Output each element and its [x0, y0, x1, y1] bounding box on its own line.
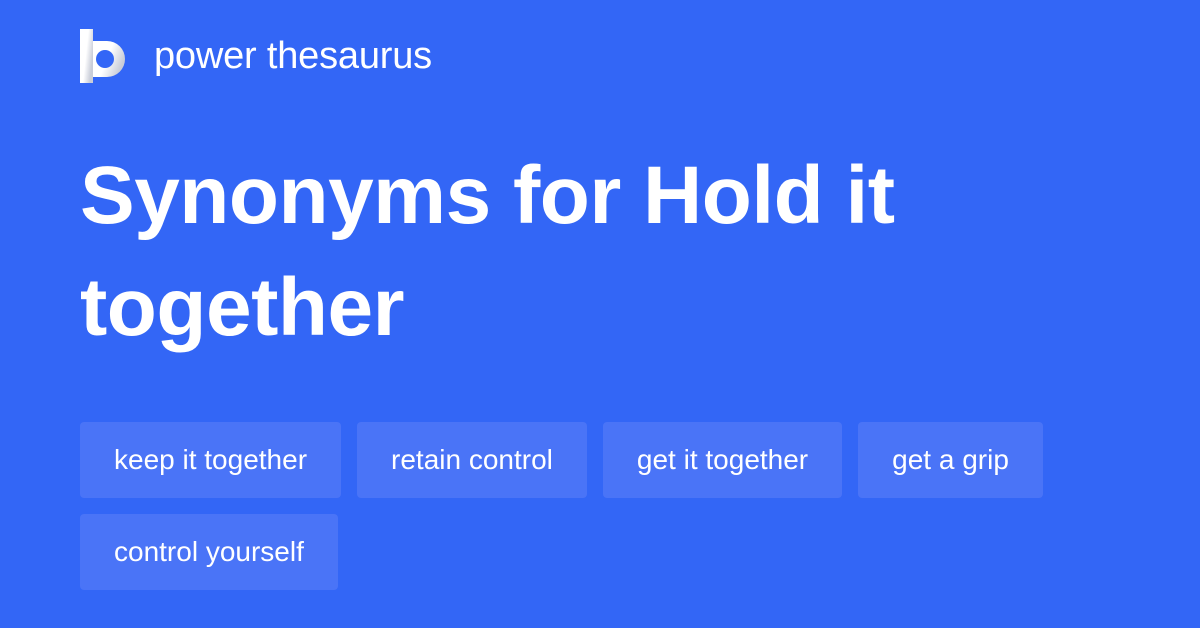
synonym-chip[interactable]: retain control	[357, 422, 587, 498]
synonym-chip[interactable]: get a grip	[858, 422, 1043, 498]
page-title: Synonyms for Hold it together	[80, 140, 1090, 364]
synonym-chip[interactable]: keep it together	[80, 422, 341, 498]
share-card: power thesaurus Synonyms for Hold it tog…	[0, 0, 1200, 628]
synonym-chip-list: keep it together retain control get it t…	[80, 422, 1120, 590]
synonym-chip[interactable]: control yourself	[80, 514, 338, 590]
brand-name: power thesaurus	[154, 37, 432, 75]
power-thesaurus-b-logo-icon	[80, 29, 126, 83]
synonym-chip[interactable]: get it together	[603, 422, 842, 498]
brand-logo[interactable]: power thesaurus	[80, 28, 432, 84]
